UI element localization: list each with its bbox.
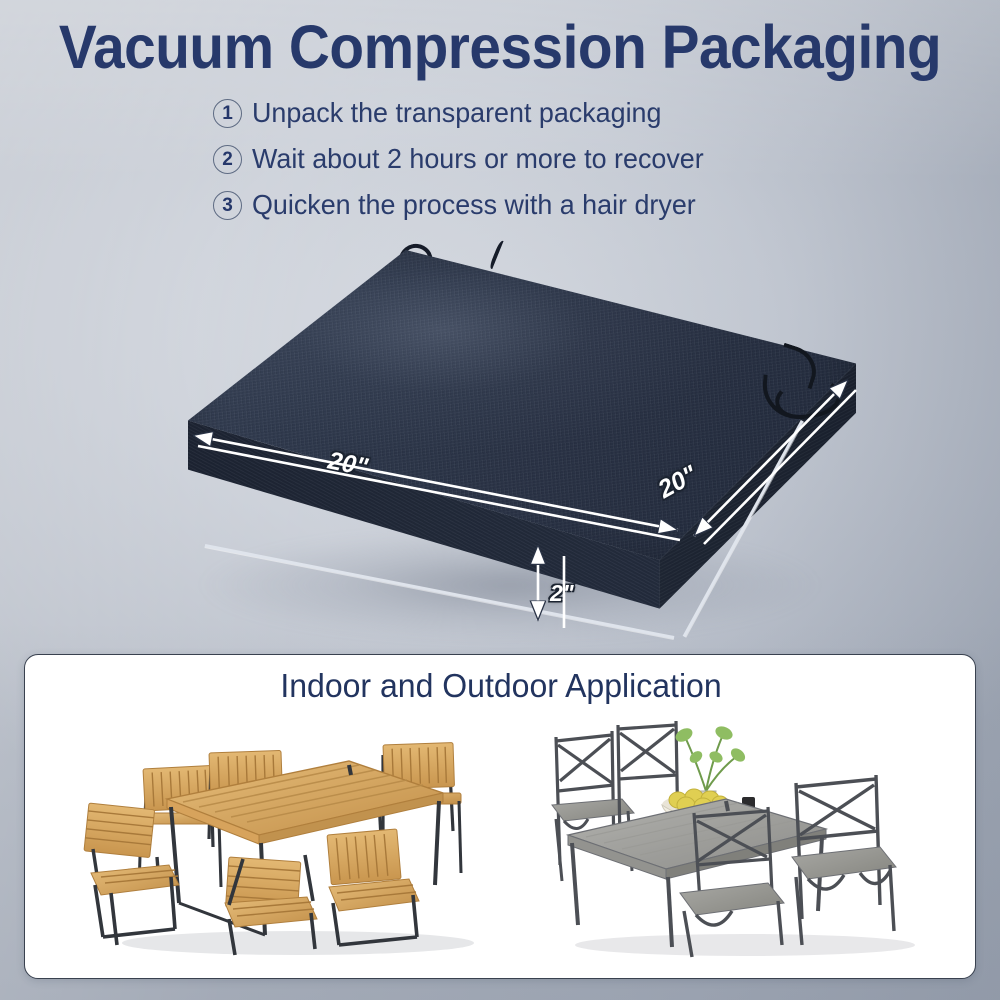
step-text: Unpack the transparent packaging: [252, 98, 661, 128]
instruction-list: 1 Unpack the transparent packaging 2 Wai…: [213, 90, 853, 228]
dimension-label-thickness: 2": [550, 580, 574, 607]
cushion-top-highlight: [188, 250, 856, 560]
step-text: Wait about 2 hours or more to recover: [252, 144, 704, 174]
cushion-body: [150, 230, 890, 650]
potted-plant-icon: [686, 737, 736, 791]
step-text: Quicken the process with a hair dryer: [252, 190, 696, 220]
indoor-gray-dining-set-illustration: [530, 695, 950, 963]
outdoor-wooden-dining-set-illustration: [83, 707, 503, 959]
list-item: 1 Unpack the transparent packaging: [213, 90, 853, 136]
product-photo-cushion: 20" 20" 2": [150, 230, 890, 650]
step-number-badge: 3: [213, 191, 242, 220]
application-panel: Indoor and Outdoor Application: [24, 654, 976, 979]
step-number-badge: 1: [213, 99, 242, 128]
step-number-badge: 2: [213, 145, 242, 174]
header-section: Vacuum Compression Packaging 1 Unpack th…: [0, 0, 1000, 235]
list-item: 2 Wait about 2 hours or more to recover: [213, 136, 853, 182]
list-item: 3 Quicken the process with a hair dryer: [213, 182, 853, 228]
page-title: Vacuum Compression Packaging: [35, 16, 965, 78]
